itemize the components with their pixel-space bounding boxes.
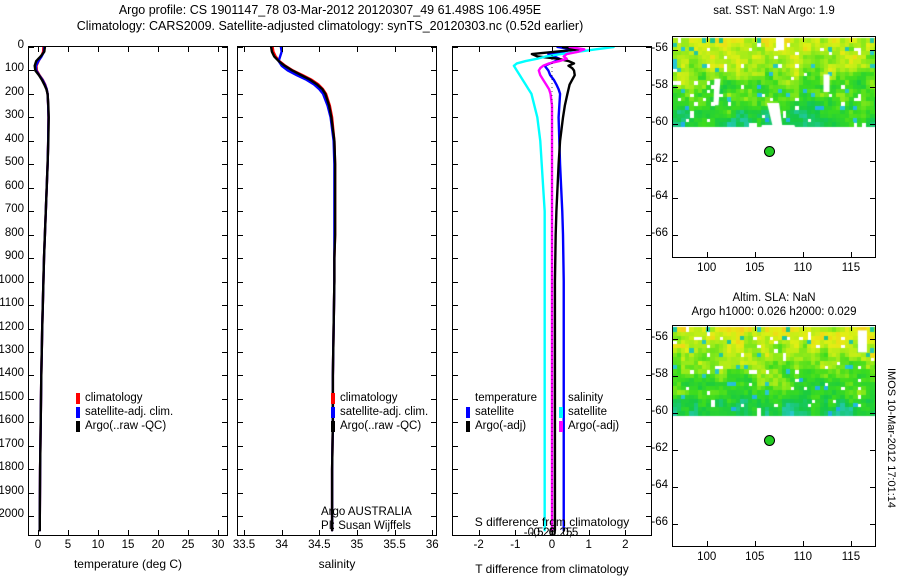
axis-tick-label: 33.5	[233, 539, 255, 551]
axis-tick	[851, 326, 852, 331]
axis-tick	[646, 188, 651, 189]
legend-item: Argo(..raw -QC)	[76, 419, 173, 433]
axis-tick	[646, 164, 651, 165]
argo-profile-figure: Argo profile: CS 1901147_78 03-Mar-2012 …	[0, 0, 900, 580]
axis-tick	[453, 235, 458, 236]
axis-tick	[673, 413, 678, 414]
axis-tick	[395, 47, 396, 52]
axis-tick	[431, 399, 436, 400]
axis-tick-label: 100	[697, 551, 716, 563]
salinity-legend: climatology satellite-adj. clim. Argo(..…	[331, 391, 428, 433]
axis-tick	[453, 47, 458, 48]
axis-tick	[673, 376, 678, 377]
axis-tick	[431, 164, 436, 165]
axis-tick-label: 500	[5, 156, 24, 168]
axis-tick	[244, 47, 245, 52]
axis-tick	[453, 493, 458, 494]
difference-legend-salinity: salinity satellite Argo(-adj)	[559, 391, 619, 433]
axis-tick	[218, 47, 219, 52]
legend-label: Argo(..raw -QC)	[340, 419, 421, 433]
legend-header-salinity: salinity	[559, 391, 619, 405]
axis-tick	[453, 469, 458, 470]
axis-tick	[851, 37, 852, 42]
axis-tick	[282, 47, 283, 52]
axis-tick-label: -66	[651, 227, 668, 239]
axis-tick	[589, 530, 590, 535]
axis-tick	[238, 305, 243, 306]
axis-tick	[431, 94, 436, 95]
axis-tick	[222, 469, 227, 470]
legend-item: climatology	[331, 391, 428, 405]
axis-tick	[29, 258, 34, 259]
axis-tick	[222, 305, 227, 306]
axis-tick	[870, 124, 875, 125]
axis-tick	[646, 117, 651, 118]
difference-legend-temperature: temperature satellite Argo(-adj)	[466, 391, 537, 433]
difference-curves	[453, 47, 651, 535]
axis-tick-label: 100	[5, 62, 24, 74]
axis-tick	[625, 530, 626, 535]
axis-tick-label: 1400	[0, 367, 24, 379]
axis-tick	[646, 469, 651, 470]
axis-tick	[870, 376, 875, 377]
axis-tick	[238, 422, 243, 423]
axis-tick	[646, 141, 651, 142]
axis-tick-label: 34.5	[308, 539, 330, 551]
axis-tick	[158, 47, 159, 52]
axis-tick-label: -1	[510, 539, 520, 551]
axis-tick-label: 34	[275, 539, 288, 551]
axis-tick	[29, 516, 34, 517]
axis-tick	[29, 329, 34, 330]
float-position-marker	[764, 146, 775, 157]
legend-swatch-salinity-argo-adj	[559, 421, 563, 432]
axis-tick	[222, 375, 227, 376]
axis-tick	[238, 469, 243, 470]
axis-tick	[870, 198, 875, 199]
axis-tick-label: 1200	[0, 321, 24, 333]
axis-tick	[870, 339, 875, 340]
provider-name: Argo AUSTRALIA	[321, 505, 412, 519]
legend-label: satellite-adj. clim.	[340, 405, 428, 419]
axis-tick-label: 600	[5, 180, 24, 192]
axis-tick	[453, 141, 458, 142]
legend-swatch-salinity-satellite	[559, 407, 563, 418]
axis-tick	[128, 47, 129, 52]
axis-tick-label: 105	[745, 262, 764, 274]
axis-tick	[432, 47, 433, 52]
axis-tick	[673, 161, 678, 162]
temperature-axis-label: temperature (deg C)	[28, 557, 228, 571]
axis-tick	[646, 70, 651, 71]
map-sla-title-line-2: Argo h1000: 0.026 h2000: 0.029	[668, 305, 880, 319]
axis-tick-label: 1300	[0, 344, 24, 356]
axis-tick	[673, 50, 678, 51]
axis-tick	[646, 258, 651, 259]
legend-item: satellite	[559, 405, 619, 419]
axis-tick-label: 1900	[0, 485, 24, 497]
axis-tick	[453, 188, 458, 189]
axis-tick	[755, 541, 756, 546]
axis-tick	[453, 446, 458, 447]
axis-tick	[673, 450, 678, 451]
axis-tick	[98, 47, 99, 52]
axis-tick	[222, 352, 227, 353]
axis-tick	[432, 530, 433, 535]
axis-tick	[29, 188, 34, 189]
salinity-curves	[238, 47, 436, 535]
axis-tick	[431, 188, 436, 189]
axis-tick-label: 10	[92, 539, 105, 551]
axis-tick	[222, 493, 227, 494]
axis-tick-label: -60	[651, 405, 668, 417]
axis-tick	[552, 47, 553, 52]
axis-tick	[29, 282, 34, 283]
legend-item: Argo(..raw -QC)	[331, 419, 428, 433]
axis-tick	[98, 530, 99, 535]
axis-tick	[29, 352, 34, 353]
axis-tick	[803, 252, 804, 257]
axis-tick	[238, 258, 243, 259]
axis-tick	[29, 493, 34, 494]
axis-tick-label: 1	[585, 539, 591, 551]
axis-tick	[222, 141, 227, 142]
axis-tick	[188, 530, 189, 535]
axis-tick	[29, 164, 34, 165]
legend-item: satellite-adj. clim.	[76, 405, 173, 419]
axis-tick	[453, 164, 458, 165]
legend-item: satellite-adj. clim.	[331, 405, 428, 419]
axis-tick	[68, 530, 69, 535]
axis-tick	[238, 375, 243, 376]
axis-tick-label: 400	[5, 133, 24, 145]
axis-tick	[431, 211, 436, 212]
axis-tick	[222, 516, 227, 517]
axis-tick	[238, 117, 243, 118]
axis-tick	[29, 235, 34, 236]
axis-tick	[646, 305, 651, 306]
axis-tick	[38, 47, 39, 52]
axis-tick	[238, 94, 243, 95]
axis-tick-label: 105	[745, 551, 764, 563]
axis-tick	[453, 258, 458, 259]
axis-tick-label: 200	[5, 86, 24, 98]
axis-tick	[453, 329, 458, 330]
axis-tick	[222, 258, 227, 259]
temperature-plot-area	[28, 46, 228, 536]
legend-label: satellite-adj. clim.	[85, 405, 173, 419]
axis-tick	[453, 117, 458, 118]
axis-tick	[282, 530, 283, 535]
axis-tick	[218, 530, 219, 535]
axis-tick	[222, 47, 227, 48]
axis-tick	[222, 422, 227, 423]
axis-tick	[431, 117, 436, 118]
axis-tick	[646, 352, 651, 353]
axis-tick	[646, 375, 651, 376]
axis-tick	[238, 141, 243, 142]
axis-tick	[646, 211, 651, 212]
axis-tick	[515, 530, 516, 535]
map-sst-title: sat. SST: NaN Argo: 1.9	[668, 4, 880, 18]
axis-tick	[707, 326, 708, 331]
legend-item: climatology	[76, 391, 173, 405]
page-title: Argo profile: CS 1901147_78 03-Mar-2012 …	[0, 2, 660, 34]
axis-tick	[673, 198, 678, 199]
salinity-plot-area	[237, 46, 437, 536]
axis-tick	[870, 235, 875, 236]
axis-tick	[431, 422, 436, 423]
axis-tick	[319, 47, 320, 52]
axis-tick-label: 1100	[0, 297, 24, 309]
axis-tick	[453, 305, 458, 306]
axis-tick	[222, 211, 227, 212]
provider-annotation: Argo AUSTRALIA PI: Susan Wijffels	[321, 505, 412, 533]
axis-tick	[755, 37, 756, 42]
axis-tick	[851, 541, 852, 546]
axis-tick	[453, 70, 458, 71]
axis-tick-label: 0	[549, 539, 555, 551]
axis-tick	[29, 94, 34, 95]
axis-tick-label: 0	[18, 39, 24, 51]
axis-tick	[673, 124, 678, 125]
axis-tick	[222, 94, 227, 95]
axis-tick-label: 110	[794, 262, 812, 274]
axis-tick-label: 5	[65, 539, 71, 551]
difference-plot-area	[452, 46, 652, 536]
axis-tick-label: -2	[474, 539, 484, 551]
legend-item: Argo(-adj)	[466, 419, 537, 433]
axis-tick-label: -62	[651, 153, 668, 165]
legend-label: Argo(..raw -QC)	[85, 419, 166, 433]
axis-tick-label: -64	[651, 479, 668, 491]
axis-tick-label: 15	[122, 539, 135, 551]
axis-tick	[707, 541, 708, 546]
legend-label: climatology	[85, 391, 143, 405]
axis-tick	[222, 329, 227, 330]
axis-tick	[238, 211, 243, 212]
axis-tick	[238, 446, 243, 447]
legend-swatch-temperature-satellite	[466, 407, 470, 418]
axis-tick-label: 700	[5, 203, 24, 215]
axis-tick-label: -64	[651, 190, 668, 202]
legend-swatch-satellite-adj	[331, 407, 335, 418]
axis-tick	[453, 399, 458, 400]
title-line-1: Argo profile: CS 1901147_78 03-Mar-2012 …	[0, 2, 660, 18]
axis-tick	[870, 524, 875, 525]
axis-tick-label: 900	[5, 250, 24, 262]
axis-tick	[29, 469, 34, 470]
axis-tick	[222, 117, 227, 118]
axis-tick	[238, 329, 243, 330]
axis-tick	[68, 47, 69, 52]
axis-tick-label: 2	[622, 539, 628, 551]
legend-label: climatology	[340, 391, 398, 405]
legend-swatch-satellite-adj	[76, 407, 80, 418]
axis-tick	[646, 493, 651, 494]
axis-tick	[673, 339, 678, 340]
axis-tick	[29, 422, 34, 423]
axis-tick	[29, 305, 34, 306]
axis-tick	[244, 530, 245, 535]
axis-tick	[238, 188, 243, 189]
axis-tick	[870, 50, 875, 51]
axis-tick-label: 0	[35, 539, 41, 551]
axis-tick	[646, 282, 651, 283]
legend-header-temperature: temperature	[466, 391, 537, 405]
salinity-difference-axis-label: S difference from climatology	[452, 515, 652, 529]
legend-label: satellite	[568, 405, 607, 419]
axis-tick	[238, 164, 243, 165]
axis-tick	[707, 37, 708, 42]
axis-tick-label: 110	[794, 551, 812, 563]
temperature-curves	[29, 47, 227, 535]
axis-tick	[222, 446, 227, 447]
axis-tick-label: 20	[152, 539, 165, 551]
axis-tick	[673, 487, 678, 488]
axis-tick	[431, 446, 436, 447]
axis-tick	[755, 252, 756, 257]
axis-tick	[673, 235, 678, 236]
axis-tick	[222, 282, 227, 283]
axis-tick-label: 100	[697, 262, 716, 274]
axis-tick	[453, 282, 458, 283]
axis-tick	[453, 422, 458, 423]
axis-tick	[431, 258, 436, 259]
axis-tick	[38, 530, 39, 535]
axis-tick	[188, 47, 189, 52]
axis-tick	[29, 117, 34, 118]
axis-tick	[238, 235, 243, 236]
axis-tick	[431, 516, 436, 517]
temperature-difference-axis-label: T difference from climatology	[452, 562, 652, 576]
sla-color-field	[673, 326, 875, 546]
axis-tick-label: 1500	[0, 391, 24, 403]
axis-tick	[646, 422, 651, 423]
axis-tick	[515, 47, 516, 52]
axis-tick	[870, 413, 875, 414]
axis-tick	[431, 493, 436, 494]
axis-tick-label: -58	[651, 79, 668, 91]
legend-item: Argo(-adj)	[559, 419, 619, 433]
axis-tick	[453, 94, 458, 95]
axis-tick	[29, 141, 34, 142]
axis-tick	[479, 530, 480, 535]
axis-tick	[646, 47, 651, 48]
axis-tick-label: -56	[651, 42, 668, 54]
axis-tick-label: 25	[182, 539, 195, 551]
axis-tick	[158, 530, 159, 535]
map-sla-plot-area	[672, 325, 876, 547]
timestamp-stamp: IMOS 10-Mar-2012 17:01:14	[885, 368, 897, 508]
axis-tick	[128, 530, 129, 535]
axis-tick	[646, 94, 651, 95]
axis-tick	[870, 450, 875, 451]
axis-tick	[870, 487, 875, 488]
legend-swatch-climatology	[76, 393, 80, 404]
axis-tick	[646, 235, 651, 236]
axis-tick	[646, 446, 651, 447]
axis-tick	[29, 375, 34, 376]
map-sst-plot-area	[672, 36, 876, 258]
axis-tick-label: 115	[842, 551, 860, 563]
axis-tick	[431, 70, 436, 71]
axis-tick	[238, 70, 243, 71]
axis-tick	[673, 524, 678, 525]
float-position-marker	[764, 435, 775, 446]
axis-tick-label: 2000	[0, 508, 24, 520]
axis-tick	[431, 141, 436, 142]
axis-tick	[431, 469, 436, 470]
axis-tick	[589, 47, 590, 52]
axis-tick	[222, 399, 227, 400]
axis-tick	[238, 516, 243, 517]
axis-tick-label: 300	[5, 109, 24, 121]
map-sla-title-line-1: Altim. SLA: NaN	[668, 291, 880, 305]
axis-tick	[431, 352, 436, 353]
axis-tick-label: 1000	[0, 274, 24, 286]
axis-tick	[803, 326, 804, 331]
salinity-axis-label: salinity	[237, 557, 437, 571]
axis-tick-label: -62	[651, 442, 668, 454]
axis-tick-label: 800	[5, 227, 24, 239]
axis-tick	[431, 282, 436, 283]
sst-color-field	[673, 37, 875, 257]
axis-tick	[431, 235, 436, 236]
axis-tick-label: 30	[212, 539, 225, 551]
axis-tick	[870, 161, 875, 162]
axis-tick	[29, 211, 34, 212]
axis-tick	[431, 305, 436, 306]
axis-tick	[625, 47, 626, 52]
legend-label: Argo(-adj)	[568, 419, 619, 433]
axis-tick	[707, 252, 708, 257]
axis-tick	[803, 541, 804, 546]
axis-tick	[222, 188, 227, 189]
axis-tick-label: -60	[651, 116, 668, 128]
axis-tick-label: 1600	[0, 414, 24, 426]
legend-swatch-temperature-argo-adj	[466, 421, 470, 432]
axis-tick	[222, 70, 227, 71]
axis-tick-label: -56	[651, 331, 668, 343]
axis-tick-label: 35.5	[383, 539, 405, 551]
axis-tick	[673, 87, 678, 88]
axis-tick-label: 1800	[0, 461, 24, 473]
legend-item: satellite	[466, 405, 537, 419]
axis-tick	[29, 47, 34, 48]
axis-tick	[479, 47, 480, 52]
axis-tick-label: -66	[651, 516, 668, 528]
legend-swatch-argo-raw	[331, 421, 335, 432]
axis-tick	[238, 282, 243, 283]
axis-tick	[431, 375, 436, 376]
axis-tick-label: 36	[426, 539, 439, 551]
axis-tick	[238, 399, 243, 400]
axis-tick	[222, 235, 227, 236]
axis-tick	[453, 211, 458, 212]
axis-tick-label: -58	[651, 368, 668, 380]
axis-tick	[222, 164, 227, 165]
axis-tick	[29, 399, 34, 400]
legend-swatch-climatology	[331, 393, 335, 404]
axis-tick	[646, 329, 651, 330]
axis-tick	[851, 252, 852, 257]
axis-tick	[357, 47, 358, 52]
axis-tick	[238, 352, 243, 353]
axis-tick-label: 115	[842, 262, 860, 274]
axis-tick	[870, 87, 875, 88]
axis-tick	[238, 493, 243, 494]
